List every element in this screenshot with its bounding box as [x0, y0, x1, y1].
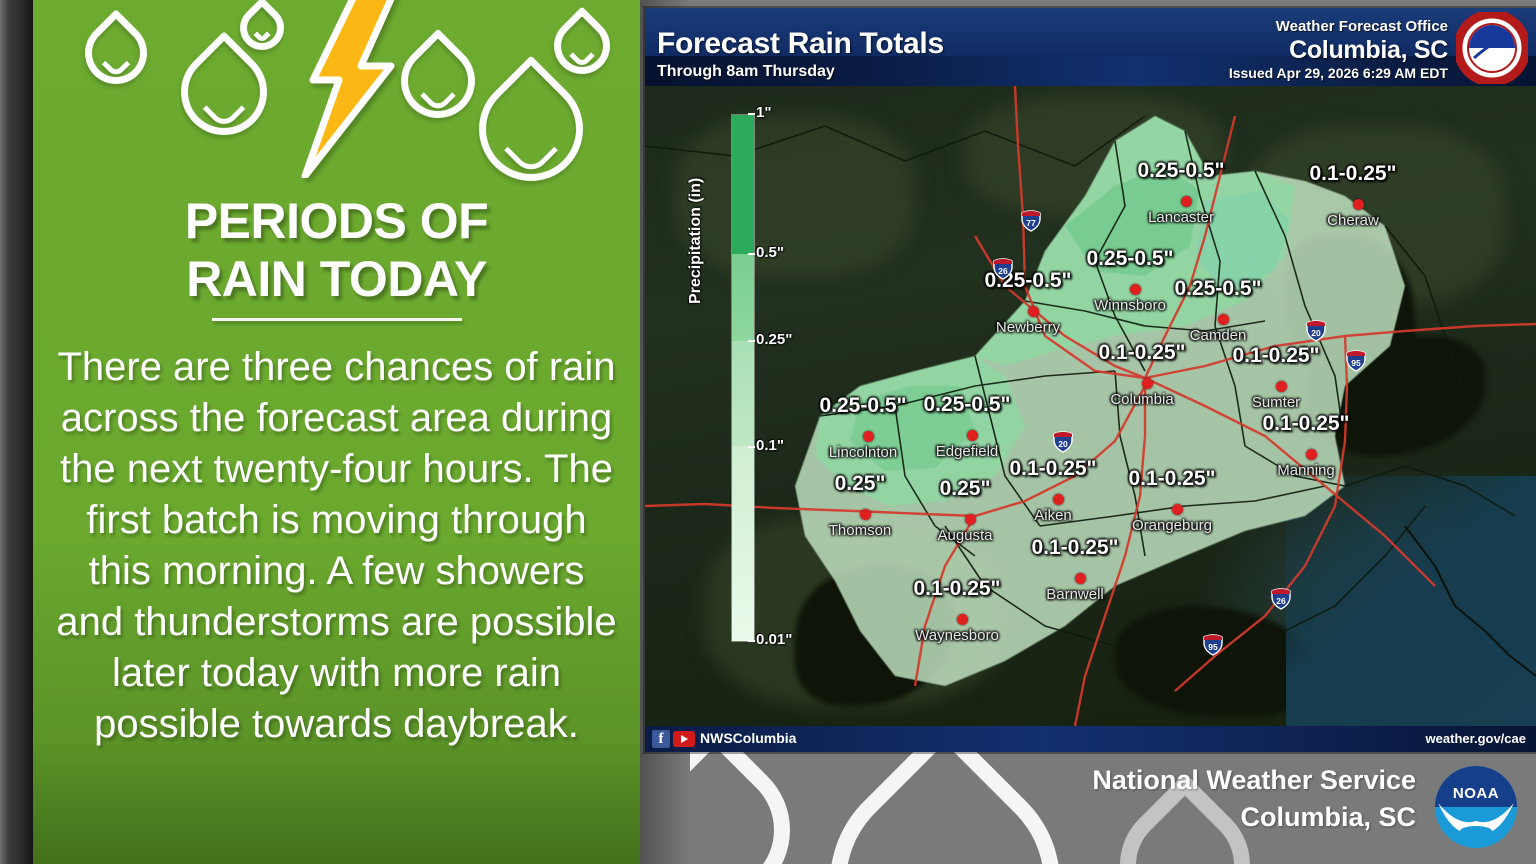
- rain-amount-label: 0.25": [940, 477, 991, 501]
- agency-name: National Weather Service: [1092, 765, 1416, 796]
- legend-tick-0.5in: 0.5": [756, 244, 784, 261]
- city-dot-icon: [1028, 306, 1039, 317]
- rain-amount-label: 0.1-0.25": [1098, 341, 1185, 365]
- legend-tick-1in: 1": [756, 104, 771, 121]
- website-url-label[interactable]: weather.gov/cae: [1426, 731, 1526, 746]
- city-dot-icon: [1130, 284, 1141, 295]
- city-name-label: Cheraw: [1327, 212, 1379, 229]
- svg-text:NOAA: NOAA: [1453, 785, 1499, 802]
- legend-colorbar: [731, 114, 755, 642]
- raindrop-icon: [542, 6, 621, 85]
- city-dot-icon: [1353, 199, 1364, 210]
- legend-axis-label: Precipitation (in): [687, 178, 705, 304]
- nws-seal-icon: [1456, 12, 1528, 84]
- page-title: PERIODS OF RAIN TODAY: [33, 192, 640, 308]
- headline-line-1: PERIODS OF: [33, 192, 640, 250]
- forecast-map-card: Forecast Rain Totals Through 8am Thursda…: [645, 8, 1536, 752]
- city-name-label: Aiken: [1034, 507, 1072, 524]
- left-edge-shadow: [0, 0, 33, 864]
- city-name-label: Winnsboro: [1094, 297, 1166, 314]
- svg-text:20: 20: [1311, 328, 1321, 338]
- city-name-label: Lincolnton: [829, 444, 897, 461]
- city-name-label: Orangeburg: [1132, 517, 1212, 534]
- city-name-label: Barnwell: [1046, 586, 1104, 603]
- map-footer-bar: f NWSColumbia weather.gov/cae: [645, 726, 1536, 752]
- interstate-shield-icon: 26: [1270, 588, 1292, 610]
- city-name-label: Camden: [1190, 327, 1247, 344]
- raindrop-icon: [457, 55, 604, 202]
- city-dot-icon: [1075, 573, 1086, 584]
- svg-text:26: 26: [1276, 596, 1286, 606]
- legend-tick-0.01in: 0.01": [756, 631, 792, 648]
- city-dot-icon: [967, 430, 978, 441]
- interstate-shield-icon: 77: [1020, 210, 1042, 232]
- city-dot-icon: [957, 614, 968, 625]
- legend-segment-0.1in: [732, 446, 754, 641]
- wfo-name: Columbia, SC: [1289, 36, 1448, 65]
- noaa-logo-icon: NOAA: [1434, 765, 1518, 849]
- city-dot-icon: [863, 431, 874, 442]
- rain-amount-label: 0.25-0.5": [1137, 159, 1224, 183]
- city-name-label: Waynesboro: [915, 627, 999, 644]
- map-title: Forecast Rain Totals: [657, 27, 944, 61]
- legend-tick-0.25in: 0.25": [756, 331, 792, 348]
- interstate-shield-icon: 26: [992, 258, 1014, 280]
- headline-divider: [212, 318, 462, 321]
- rain-amount-label: 0.1-0.25": [913, 577, 1000, 601]
- headline-line-2: RAIN TODAY: [33, 250, 640, 308]
- city-dot-icon: [1276, 381, 1287, 392]
- city-dot-icon: [1306, 449, 1317, 460]
- headline-panel: PERIODS OF RAIN TODAY There are three ch…: [33, 0, 640, 864]
- interstate-shield-icon: 95: [1345, 350, 1367, 372]
- interstate-shield-icon: 20: [1052, 431, 1074, 453]
- svg-text:95: 95: [1351, 358, 1361, 368]
- city-name-label: Newberry: [996, 319, 1060, 336]
- city-name-label: Augusta: [937, 527, 992, 544]
- legend-segment-0.25in: [732, 341, 754, 446]
- rain-thunderstorm-artwork: [33, 0, 640, 174]
- city-dot-icon: [1172, 504, 1183, 515]
- issued-time: Issued Apr 29, 2026 6:29 AM EDT: [1229, 65, 1448, 81]
- city-name-label: Edgefield: [936, 443, 999, 460]
- rain-amount-label: 0.1-0.25": [1232, 344, 1319, 368]
- svg-text:26: 26: [998, 266, 1008, 276]
- svg-text:77: 77: [1026, 218, 1036, 228]
- svg-text:20: 20: [1058, 439, 1068, 449]
- city-name-label: Lancaster: [1148, 209, 1214, 226]
- interstate-shield-icon: 20: [1305, 320, 1327, 342]
- city-name-label: Thomson: [829, 522, 892, 539]
- map-header-bar: Forecast Rain Totals Through 8am Thursda…: [645, 8, 1536, 86]
- rain-amount-label: 0.1-0.25": [1031, 536, 1118, 560]
- raindrop-icon: [72, 9, 160, 97]
- forecast-body-text: There are three chances of rain across t…: [51, 342, 622, 750]
- svg-text:95: 95: [1208, 642, 1218, 652]
- youtube-icon[interactable]: [673, 731, 695, 747]
- rain-amount-label: 0.25-0.5": [819, 394, 906, 418]
- wfo-label: Weather Forecast Office: [1276, 18, 1448, 35]
- legend-segment-0.5in: [732, 254, 754, 341]
- city-name-label: Columbia: [1110, 391, 1173, 408]
- legend-segment-1in: [732, 115, 754, 254]
- map-subtitle: Through 8am Thursday: [657, 63, 835, 81]
- rain-amount-label: 0.25": [835, 472, 886, 496]
- precipitation-legend: 1" 0.5" 0.25" 0.1" 0.01" Precipitation (…: [693, 104, 813, 652]
- agency-office: Columbia, SC: [1240, 802, 1416, 833]
- rain-amount-label: 0.1-0.25": [1128, 467, 1215, 491]
- city-dot-icon: [1142, 378, 1153, 389]
- city-dot-icon: [860, 509, 871, 520]
- interstate-shield-icon: 95: [1202, 634, 1224, 656]
- legend-tick-0.1in: 0.1": [756, 437, 784, 454]
- city-dot-icon: [965, 514, 976, 525]
- map-canvas[interactable]: 1" 0.5" 0.25" 0.1" 0.01" Precipitation (…: [645, 86, 1536, 726]
- rain-amount-label: 0.1-0.25": [1309, 162, 1396, 186]
- social-handle-label: NWSColumbia: [700, 730, 796, 746]
- rain-amount-label: 0.25-0.5": [923, 393, 1010, 417]
- rain-amount-label: 0.1-0.25": [1009, 457, 1096, 481]
- city-dot-icon: [1218, 314, 1229, 325]
- city-name-label: Manning: [1277, 462, 1335, 479]
- rain-amount-label: 0.1-0.25": [1262, 412, 1349, 436]
- rain-amount-label: 0.25-0.5": [1174, 277, 1261, 301]
- city-dot-icon: [1053, 494, 1064, 505]
- facebook-icon[interactable]: f: [652, 730, 670, 748]
- lightning-bolt-icon: [295, 0, 405, 178]
- city-name-label: Sumter: [1252, 394, 1300, 411]
- rain-amount-label: 0.25-0.5": [1086, 247, 1173, 271]
- city-dot-icon: [1181, 196, 1192, 207]
